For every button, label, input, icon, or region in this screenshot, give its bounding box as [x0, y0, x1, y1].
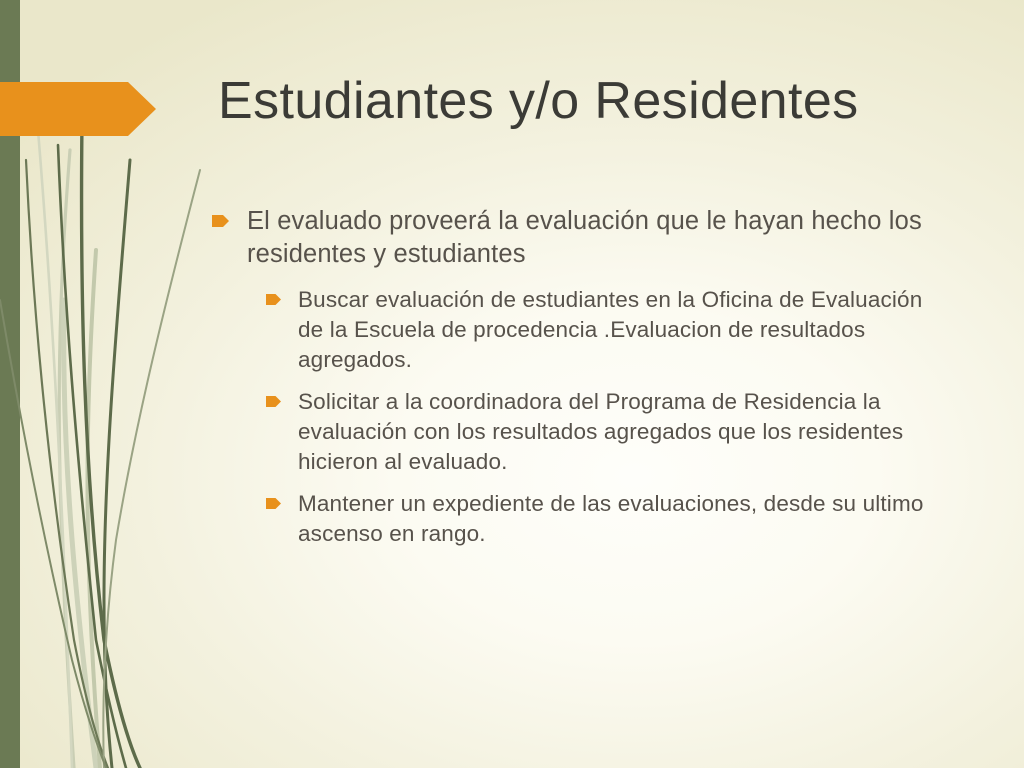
bullet-item-level2: Solicitar a la coordinadora del Programa… [266, 387, 952, 477]
bullet-text: Mantener un expediente de las evaluacion… [298, 489, 952, 549]
bullet-item-level2: Buscar evaluación de estudiantes en la O… [266, 285, 952, 375]
pennant-bullet-icon [266, 498, 281, 509]
pennant-bullet-icon [212, 215, 229, 227]
bullet-text: Buscar evaluación de estudiantes en la O… [298, 285, 952, 375]
bullet-item-level2: Mantener un expediente de las evaluacion… [266, 489, 952, 549]
pennant-bullet-icon [266, 396, 281, 407]
bullet-item-level1: El evaluado proveerá la evaluación que l… [212, 205, 952, 271]
pennant-bullet-icon [266, 294, 281, 305]
bullet-text: El evaluado proveerá la evaluación que l… [247, 205, 952, 271]
presentation-slide: Estudiantes y/o Residentes El evaluado p… [0, 0, 1024, 768]
bullet-text: Solicitar a la coordinadora del Programa… [298, 387, 952, 477]
slide-body: El evaluado proveerá la evaluación que l… [212, 205, 952, 561]
title-arrow-accent [0, 82, 156, 136]
slide-title: Estudiantes y/o Residentes [218, 72, 998, 130]
